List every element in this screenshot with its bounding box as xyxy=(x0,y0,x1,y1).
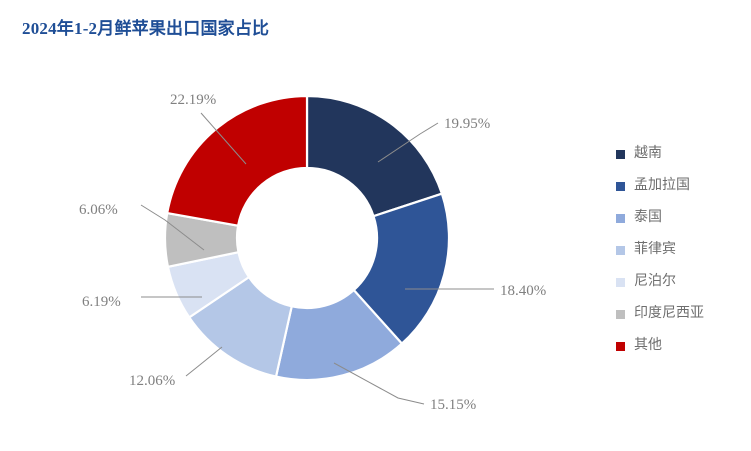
data-label: 12.06% xyxy=(129,373,175,389)
pie-slices: 越南 19.95%孟加拉国 18.40%泰国 15.15%菲律宾 12.06%尼… xyxy=(165,96,449,380)
legend-item-label: 泰国 xyxy=(634,211,662,225)
data-label: 18.40% xyxy=(500,283,546,299)
legend-swatch-icon xyxy=(616,150,625,159)
legend-swatch-icon xyxy=(616,182,625,191)
legend-swatch-icon xyxy=(616,246,625,255)
legend-item-label: 尼泊尔 xyxy=(634,275,676,289)
legend-item[interactable]: 泰国 xyxy=(616,202,746,234)
data-label: 6.19% xyxy=(82,294,121,310)
legend-item-label: 越南 xyxy=(634,147,662,161)
legend-item-label: 菲律宾 xyxy=(634,243,676,257)
legend-item-label: 孟加拉国 xyxy=(634,179,690,193)
legend-swatch-icon xyxy=(616,278,625,287)
data-label: 19.95% xyxy=(444,116,490,132)
legend-item[interactable]: 其他 xyxy=(616,330,746,362)
legend-swatch-icon xyxy=(616,214,625,223)
data-label: 22.19% xyxy=(170,92,216,108)
chart-legend: 越南孟加拉国泰国菲律宾尼泊尔印度尼西亚其他 xyxy=(616,138,746,362)
legend-item[interactable]: 印度尼西亚 xyxy=(616,298,746,330)
legend-item[interactable]: 越南 xyxy=(616,138,746,170)
legend-item[interactable]: 孟加拉国 xyxy=(616,170,746,202)
legend-item-label: 其他 xyxy=(634,339,662,353)
legend-swatch-icon xyxy=(616,342,625,351)
legend-item[interactable]: 尼泊尔 xyxy=(616,266,746,298)
legend-swatch-icon xyxy=(616,310,625,319)
legend-item[interactable]: 菲律宾 xyxy=(616,234,746,266)
pie-slice[interactable]: 其他 22.19% xyxy=(167,96,307,226)
legend-item-label: 印度尼西亚 xyxy=(634,307,704,321)
leader-line xyxy=(186,347,222,376)
pie-slice[interactable]: 越南 19.95% xyxy=(307,96,442,216)
data-label: 6.06% xyxy=(79,202,118,218)
data-label: 15.15% xyxy=(430,397,476,413)
